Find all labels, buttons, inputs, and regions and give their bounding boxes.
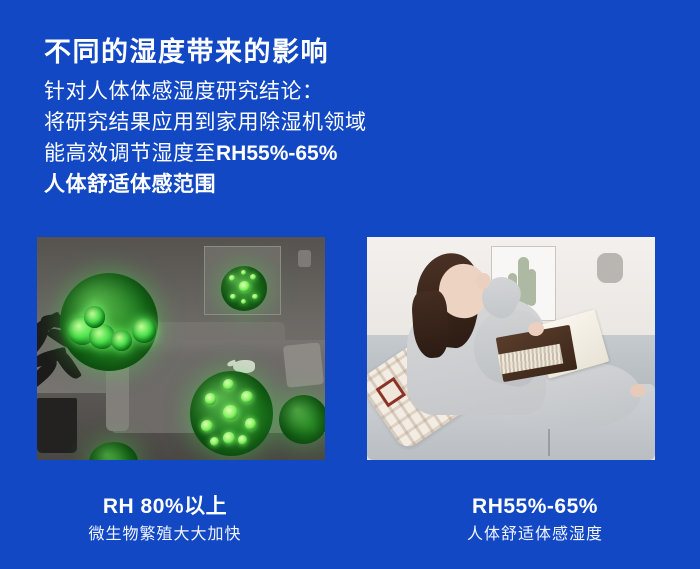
- image-comfort-humidity: [367, 237, 655, 460]
- body-line-4: 人体舒适体感范围: [44, 169, 367, 200]
- microbe-small-top: [221, 266, 267, 311]
- body-line-3: 能高效调节湿度至RH55%-65%: [44, 138, 367, 169]
- cactus-icon: [527, 269, 536, 306]
- body-line-3-prefix: 能高效调节湿度至: [44, 142, 216, 165]
- body-copy: 针对人体体感湿度研究结论： 将研究结果应用到家用除湿机领域 能高效调节湿度至RH…: [44, 76, 367, 200]
- caption-subtitle: 人体舒适体感湿度: [370, 523, 700, 547]
- microbe-room-scene: [37, 237, 325, 460]
- caption-subtitle: 微生物繁殖大大加快: [0, 523, 330, 547]
- microbe-cluster-large: [60, 273, 158, 371]
- wall-switch-icon: [298, 250, 311, 267]
- page-title: 不同的湿度带来的影响: [44, 36, 329, 70]
- caption-title: RH 80%以上: [0, 494, 330, 520]
- body-line-1: 针对人体体感湿度研究结论：: [44, 76, 367, 107]
- humidity-comparison-poster: 不同的湿度带来的影响 针对人体体感湿度研究结论： 将研究结果应用到家用除湿机领域…: [0, 0, 700, 569]
- captions-row: RH 80%以上 微生物繁殖大大加快 RH55%-65% 人体舒适体感湿度: [0, 494, 700, 569]
- body-line-2: 将研究结果应用到家用除湿机领域: [44, 107, 367, 138]
- caption-comfort-humidity: RH55%-65% 人体舒适体感湿度: [356, 494, 700, 569]
- living-room-reading-scene: [367, 237, 655, 460]
- caption-title: RH55%-65%: [370, 494, 700, 520]
- plant-pot: [37, 398, 77, 454]
- body-line-3-highlight: RH55%-65%: [216, 142, 337, 165]
- person-foot: [630, 384, 646, 397]
- microbe-right-edge: [279, 395, 325, 444]
- caption-high-humidity: RH 80%以上 微生物繁殖大大加快: [0, 494, 356, 569]
- wall-speaker-icon: [597, 253, 623, 283]
- image-high-humidity: [37, 237, 325, 460]
- sofa-cushion: [283, 342, 325, 388]
- microbe-cluster-bottom: [190, 371, 274, 456]
